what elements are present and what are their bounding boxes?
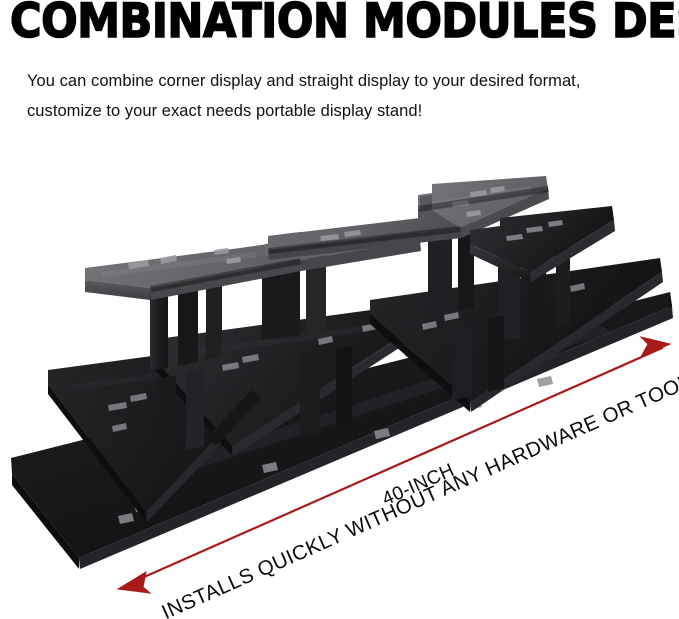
page-title: COMBINATION MODULES DESIGN	[10, 0, 616, 48]
description-block: You can combine corner display and strai…	[27, 66, 663, 126]
description-line-2: customize to your exact needs portable d…	[27, 96, 663, 126]
riser-left-b	[178, 283, 198, 366]
riser-base-right	[452, 323, 472, 400]
description-line-1: You can combine corner display and strai…	[27, 66, 663, 96]
riser-base-left-b	[186, 370, 204, 450]
infographic-page: COMBINATION MODULES DESIGN You can combi…	[0, 0, 679, 619]
riser-base-centre-b	[336, 346, 352, 428]
riser-base-right-b	[488, 316, 504, 392]
riser-base-left	[158, 376, 176, 456]
product-photo	[0, 140, 679, 619]
riser-base-centre	[300, 352, 320, 436]
